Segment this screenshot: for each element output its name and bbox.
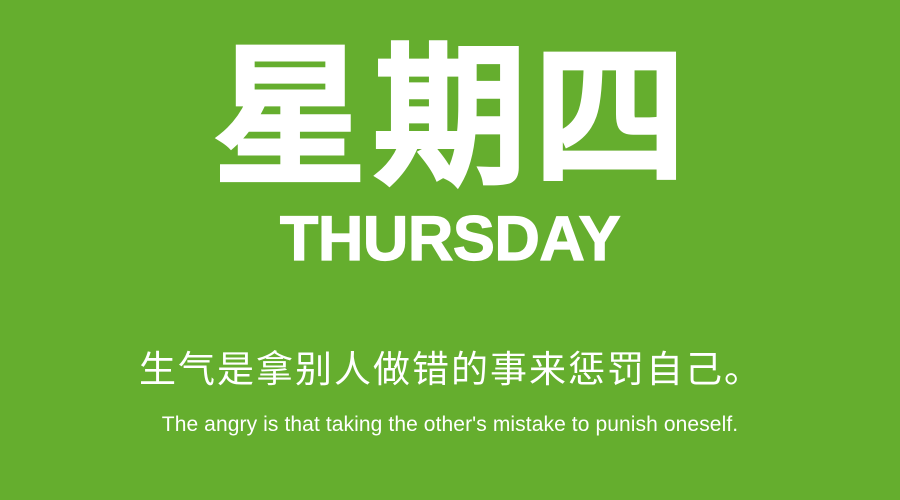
quote-text-latin: The angry is that taking the other's mis… (162, 412, 738, 437)
daily-quote-card: 星期四 THURSDAY 生气是拿别人做错的事来惩罚自己。 The angry … (0, 0, 900, 500)
day-name-cjk: 星期四 (206, 42, 694, 194)
day-heading-block: 星期四 THURSDAY (0, 42, 900, 271)
day-name-latin: THURSDAY (280, 208, 620, 271)
quote-block: 生气是拿别人做错的事来惩罚自己。 The angry is that takin… (0, 348, 900, 437)
quote-text-cjk: 生气是拿别人做错的事来惩罚自己。 (137, 348, 763, 392)
